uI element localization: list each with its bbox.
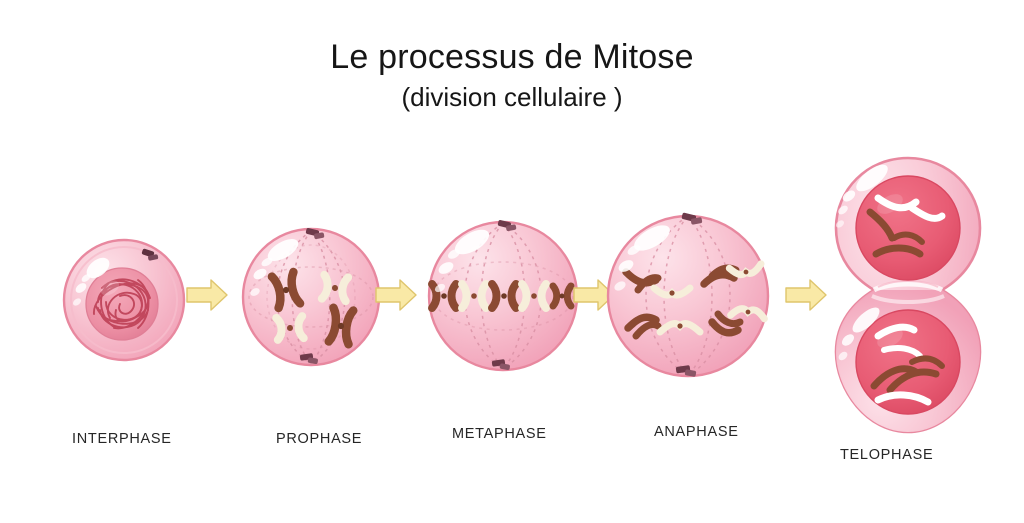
centrosome: [141, 248, 158, 261]
chromatid-brown-8: [718, 314, 740, 324]
chromatid-cream-3: [660, 323, 700, 332]
nucleus-upper: [856, 176, 960, 280]
chromatid-cream-1: [654, 288, 690, 296]
chromatin-tangle: [94, 279, 150, 328]
stage-prophase: [238, 222, 388, 374]
stage-label-metaphase: METAPHASE: [452, 426, 547, 442]
stage-label-interphase: INTERPHASE: [72, 431, 172, 447]
chromosome-cream-2: [522, 284, 546, 308]
cell-highlight: [433, 225, 492, 294]
chromatids-lower: [628, 308, 765, 336]
nucleus-highlight: [98, 278, 121, 299]
arrow-metaphase-to-anaphase: [572, 278, 616, 312]
cell-membrane: [243, 229, 379, 365]
centrosome-top: [305, 228, 324, 240]
spindle-fibers: [433, 223, 573, 369]
nucleus: [86, 268, 158, 340]
chromatid-brown-3: [704, 275, 734, 284]
cell-inner-edge: [71, 247, 177, 353]
cell-membrane: [608, 216, 768, 376]
chromatid-brown-1: [626, 272, 656, 283]
chromatid-brown-4: [712, 268, 736, 276]
cleavage-furrow: [872, 281, 944, 302]
nucleus-lower-highlight: [874, 324, 906, 352]
chromosome-brown-3: [894, 235, 922, 242]
chromosome-white-2: [912, 208, 942, 218]
centrosome-bottom: [492, 359, 511, 370]
centrosome-bottom: [676, 365, 697, 377]
arrow-interphase-to-prophase: [185, 278, 229, 312]
chromosome-cream-1: [322, 275, 348, 301]
chromosomes-upper: [870, 198, 942, 254]
stage-anaphase: [600, 210, 780, 386]
chromosome-brown-1: [870, 212, 892, 238]
chromosome-white-4: [884, 348, 920, 356]
chromosome-cream-2: [276, 316, 303, 340]
chromosome-cream-1: [462, 284, 486, 308]
arrow-anaphase-to-telophase: [784, 278, 828, 312]
chromosomes-lower: [874, 327, 942, 402]
chromosome-brown-1: [432, 284, 456, 308]
stage-label-anaphase: ANAPHASE: [654, 424, 739, 440]
chromosome-white-1: [878, 198, 916, 208]
chromosome-brown-3: [553, 286, 571, 306]
chromatids-upper: [626, 264, 762, 296]
cell-highlight: [613, 220, 674, 292]
cell-membrane: [64, 240, 184, 360]
cell-highlight: [249, 235, 302, 298]
equatorial-plate: [432, 284, 571, 308]
chromosome-brown-5: [890, 372, 936, 390]
chromosome-brown-4: [874, 369, 916, 386]
stage-label-telophase: TELOPHASE: [840, 447, 933, 463]
chromosome-brown-2: [876, 248, 920, 254]
chromosome-brown-2: [492, 284, 516, 308]
arrow-prophase-to-metaphase: [374, 278, 418, 312]
spindle-fibers: [249, 231, 373, 364]
centrosome-top: [497, 220, 516, 232]
title-block: Le processus de Mitose (division cellula…: [0, 38, 1024, 113]
stage-label-prophase: PROPHASE: [276, 431, 362, 447]
stage-telophase: [816, 150, 996, 440]
cell-membrane: [429, 222, 577, 370]
chromatid-brown-5: [628, 317, 656, 328]
chromosomes: [272, 272, 353, 344]
chromosome-white-3: [878, 327, 914, 336]
page-title: Le processus de Mitose: [0, 38, 1024, 77]
chromosome-brown-1: [272, 272, 300, 308]
centrosome-top: [681, 212, 702, 224]
nucleus-upper-highlight: [874, 190, 906, 218]
chromatid-cream-2: [729, 264, 762, 277]
cell-body-dumbbell: [836, 158, 980, 432]
cell-highlight: [72, 254, 114, 307]
chromatid-cream-4: [731, 308, 766, 319]
cell-highlight: [835, 160, 892, 362]
chromatid-brown-7: [712, 322, 738, 333]
spindle-fibers: [646, 216, 730, 376]
nucleus-lower: [856, 310, 960, 414]
cell-body-lower-shade: [836, 290, 980, 432]
stage-interphase: [58, 232, 194, 368]
centrosome-bottom: [300, 353, 319, 364]
stage-metaphase: [422, 216, 586, 380]
chromosome-white-5: [878, 395, 928, 402]
chromatid-brown-6: [636, 324, 658, 336]
chromosome-brown-6: [912, 359, 942, 366]
page-subtitle: (division cellulaire ): [0, 83, 1024, 113]
chromosome-brown-2: [329, 308, 354, 344]
chromatid-brown-2: [638, 278, 658, 290]
mitosis-diagram: Le processus de Mitose (division cellula…: [0, 0, 1024, 523]
